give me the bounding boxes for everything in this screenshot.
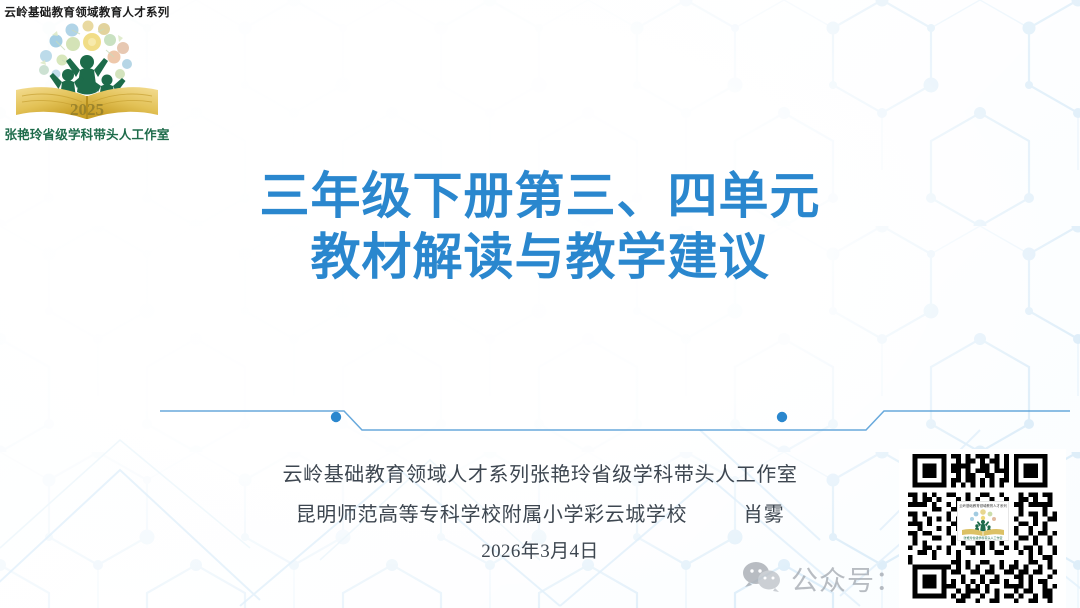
logo-artwork: 2025 <box>10 20 164 122</box>
page-title: 三年级下册第三、四单元 教材解读与教学建议 <box>0 168 1080 285</box>
footer-presenter: 肖雾 <box>743 504 784 526</box>
qr-center-logo: 云岭基础教育领域教育人才系列 <box>957 501 1009 541</box>
tech-divider <box>0 396 1080 448</box>
workshop-logo: 云岭基础教育领域教育人才系列 <box>4 2 170 150</box>
svg-text:云岭基础教育领域教育人才系列: 云岭基础教育领域教育人才系列 <box>959 503 1007 508</box>
svg-text:张艳玲省级学科带头人工作室: 张艳玲省级学科带头人工作室 <box>963 535 1002 540</box>
watermark-text: 公众号： <box>791 559 903 598</box>
wechat-qr-code[interactable]: 云岭基础教育领域教育人才系列 <box>899 449 1066 608</box>
wechat-icon <box>742 561 782 595</box>
divider-right-dot <box>777 412 787 422</box>
wechat-watermark: 公众号： <box>742 556 903 600</box>
title-line-1: 三年级下册第三、四单元 <box>0 168 1080 224</box>
logo-year: 2025 <box>70 100 104 119</box>
slide-canvas: 云岭基础教育领域教育人才系列 <box>0 0 1080 608</box>
logo-top-text: 云岭基础教育领域教育人才系列 <box>4 4 170 20</box>
divider-left-dot <box>331 412 341 422</box>
logo-bottom-text: 张艳玲省级学科带头人工作室 <box>4 124 170 143</box>
footer-school: 昆明师范高等专科学校附属小学彩云城学校 <box>296 504 687 526</box>
title-line-2: 教材解读与教学建议 <box>0 229 1080 285</box>
